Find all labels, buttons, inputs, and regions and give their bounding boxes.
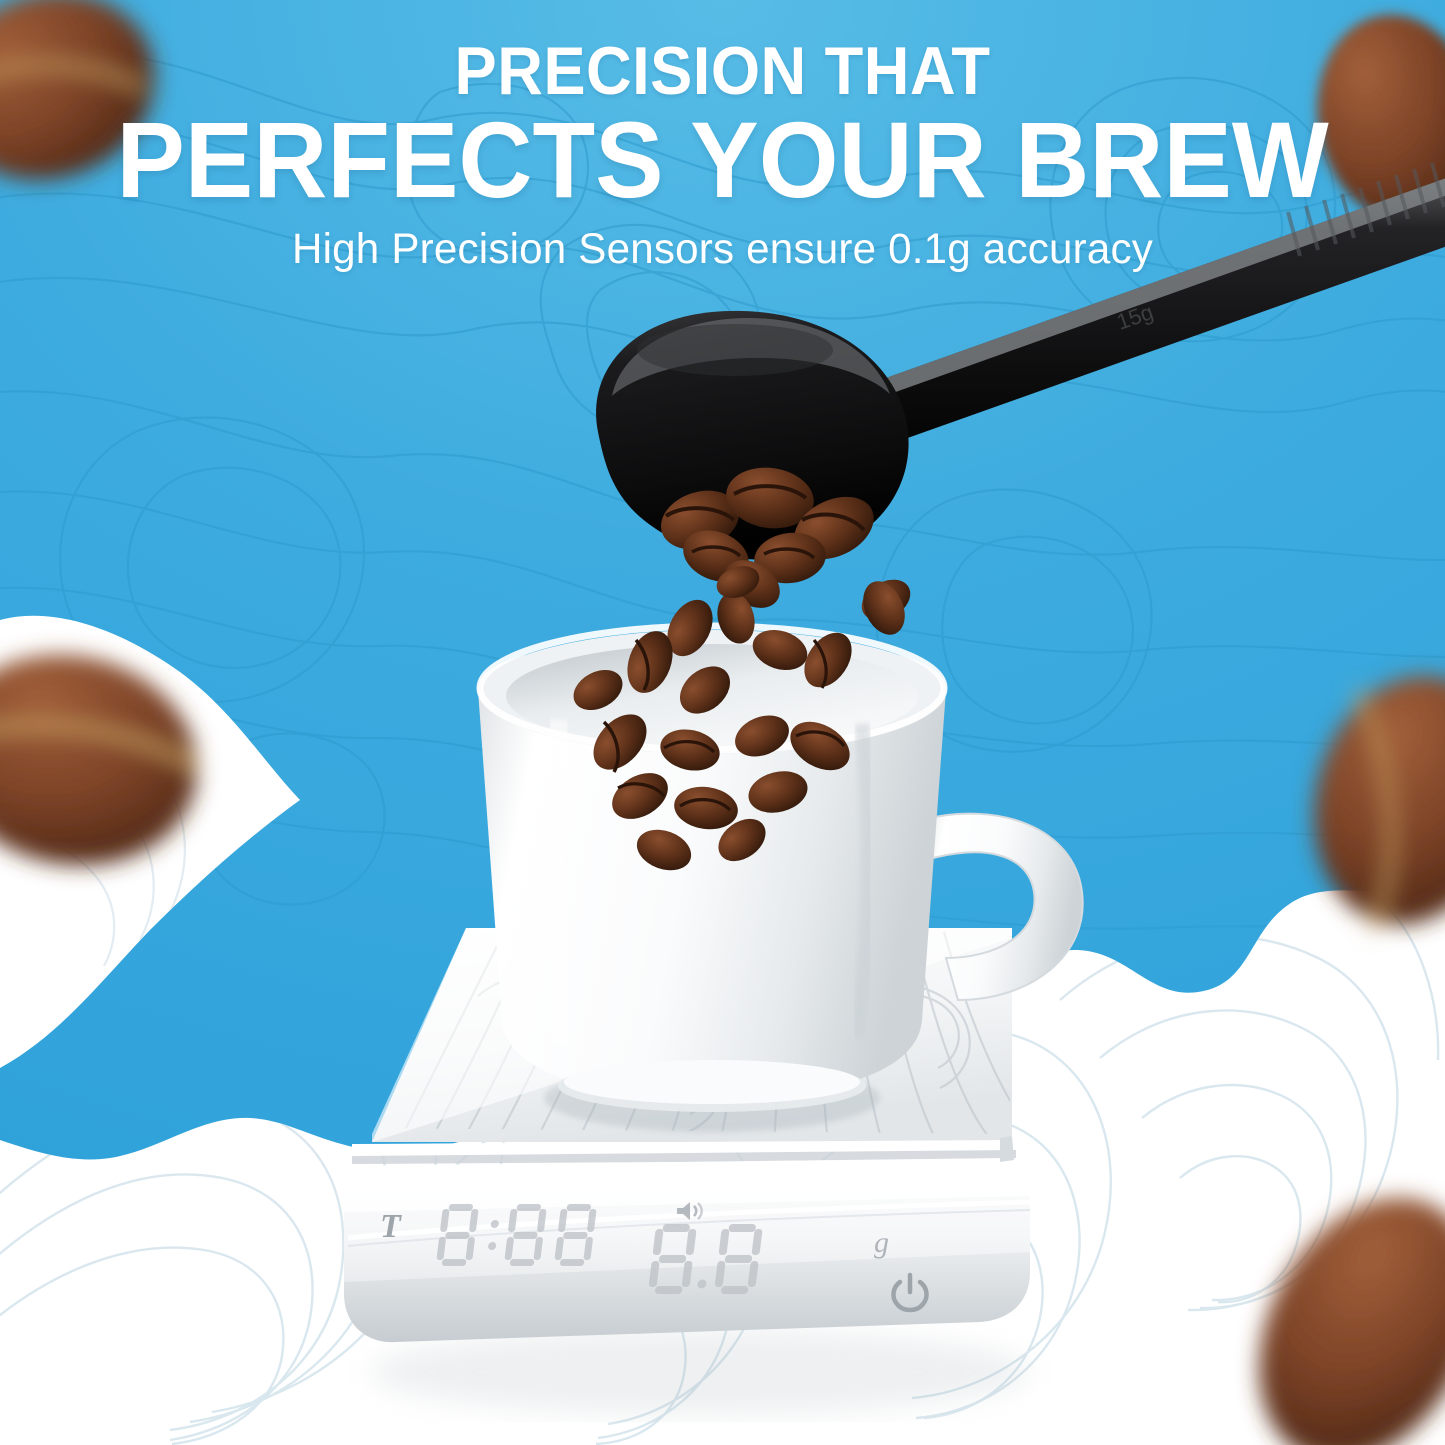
headline-line-2: PERFECTS YOUR BREW	[36, 104, 1409, 216]
headline-block: PRECISION THAT PERFECTS YOUR BREW High P…	[0, 34, 1445, 274]
headline-line-1: PRECISION THAT	[51, 34, 1395, 108]
marketing-banner: 15g	[0, 0, 1445, 1445]
subheadline: High Precision Sensors ensure 0.1g accur…	[14, 224, 1430, 274]
